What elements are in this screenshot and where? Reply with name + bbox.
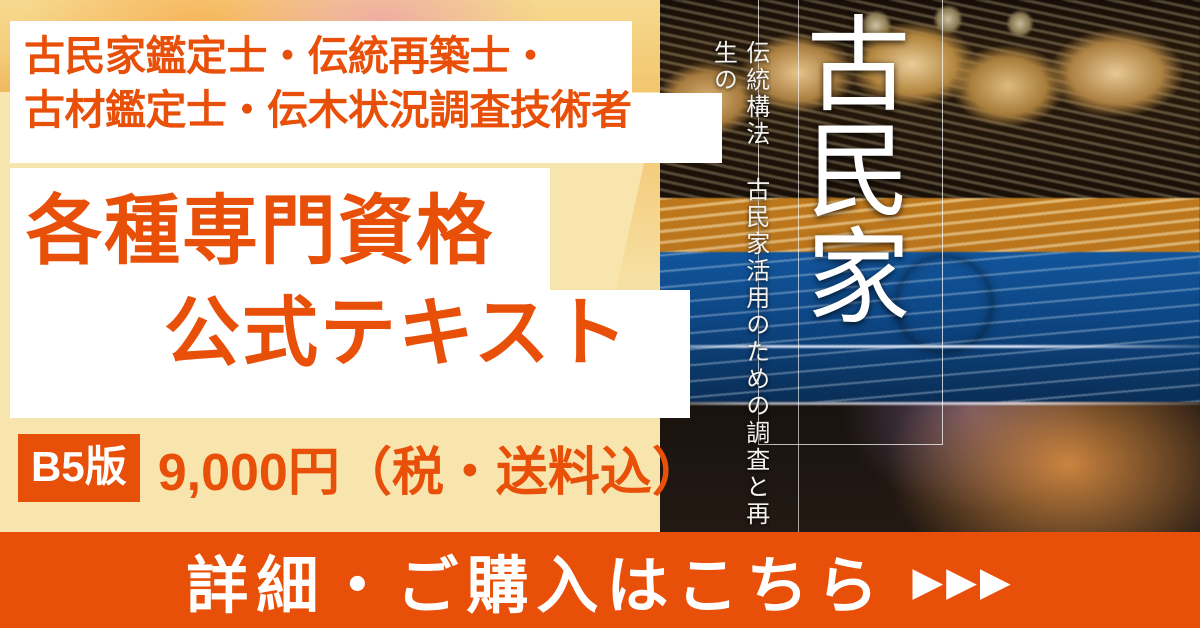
cover-title: 古民家 — [795, 10, 910, 328]
headline-line-1: 各種専門資格 — [26, 189, 494, 274]
format-badge: B5版 — [18, 434, 140, 502]
triple-arrow-right-icon: ▶▶▶ — [912, 562, 1013, 602]
cta-label[interactable]: 詳細・ご購入はこちら — [186, 535, 886, 625]
cta-bar[interactable]: 詳細・ご購入はこちら ▶▶▶ — [0, 532, 1200, 628]
price-label: 9,000円（税・送料込） — [158, 430, 704, 505]
main-headline: 各種専門資格 公式テキスト — [26, 181, 686, 385]
qualifications-line-2: 古材鑑定士・伝木状況調査技術者 — [24, 83, 724, 137]
qualifications-line-1: 古民家鑑定士・伝統再築士・ — [24, 33, 551, 79]
price-row: B5版 9,000円（税・送料込） — [18, 430, 704, 505]
promo-banner: 伝統構法 古民家活用のための調査と再生の 古民家 古民家鑑定士・伝統再築士・ 古… — [0, 0, 1200, 628]
qualifications-subheading: 古民家鑑定士・伝統再築士・ 古材鑑定士・伝木状況調査技術者 — [24, 29, 724, 137]
headline-line-2: 公式テキスト — [26, 283, 686, 385]
